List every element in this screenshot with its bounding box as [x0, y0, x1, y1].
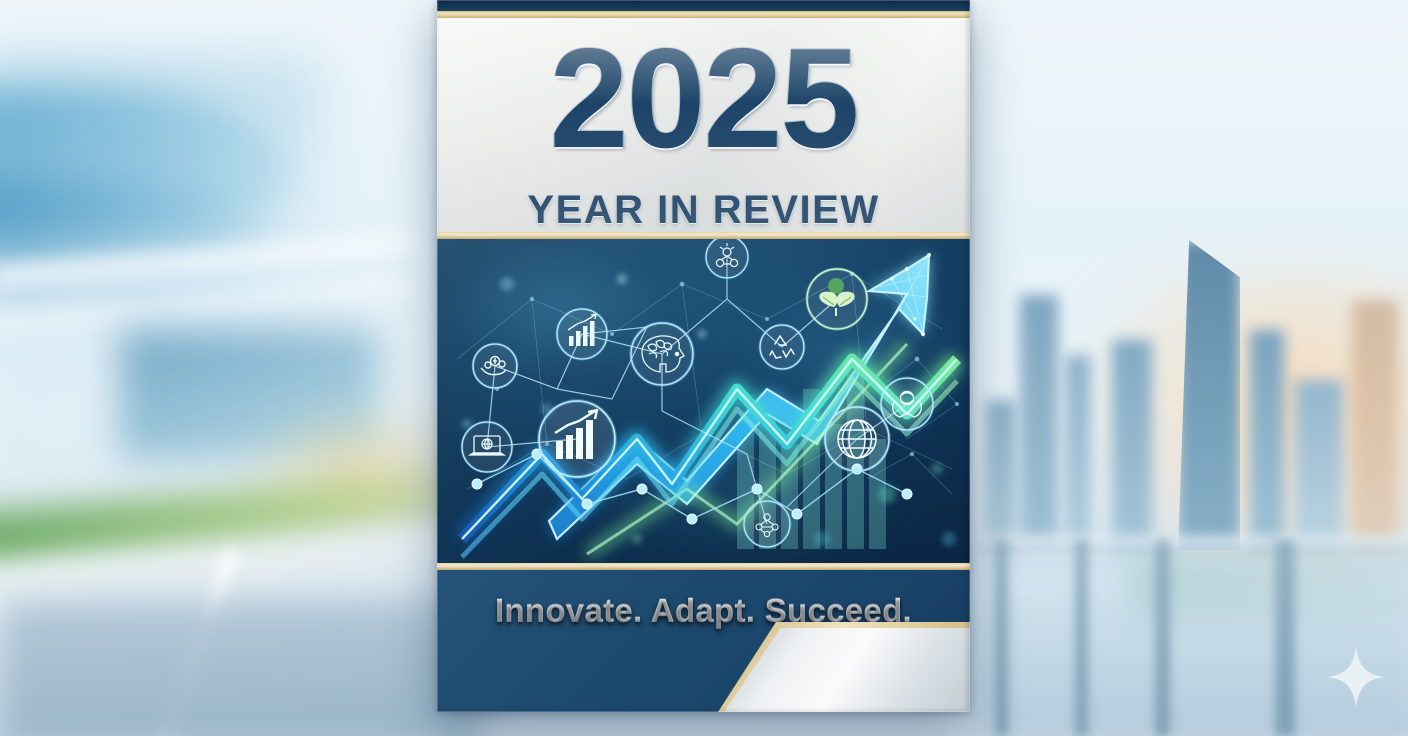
background-tower: [1065, 355, 1091, 545]
globe-grid-icon: [825, 407, 889, 471]
poster-top-navy-band: [437, 0, 970, 11]
page-subtitle: YEAR IN REVIEW: [437, 190, 970, 230]
background-rail-post: [995, 540, 1008, 736]
gear-network-icon: [706, 239, 748, 278]
footer-corner-silver-panel: [724, 628, 970, 712]
brain-ai-icon: [631, 323, 693, 385]
poster-hero-graphic: [437, 239, 970, 563]
data-point: [792, 509, 802, 519]
data-point: [582, 499, 592, 509]
background-tower: [1352, 300, 1398, 550]
background-tower: [1020, 295, 1058, 545]
background-ground: [0, 600, 480, 736]
page-title-year: 2025: [437, 28, 970, 170]
background-handrail-mid: [975, 560, 1408, 570]
data-point: [472, 479, 482, 489]
background-tower: [986, 400, 1016, 550]
recycle-icon: [760, 325, 804, 369]
background-rail-post: [1275, 540, 1295, 736]
sparkle-icon: [1327, 646, 1385, 708]
data-point: [687, 514, 697, 524]
poster-top-gold-rule: [437, 11, 970, 18]
growth-infographic: [437, 239, 970, 563]
background-tower: [1295, 380, 1343, 550]
leaf-icon: [807, 269, 867, 329]
poster-gold-divider-bottom: [437, 563, 970, 570]
poster-gold-divider-top: [437, 232, 970, 239]
background-handrail: [975, 536, 1408, 552]
background-rail-post: [1075, 540, 1088, 736]
poster-header: 2025 YEAR IN REVIEW: [437, 18, 970, 232]
data-point: [902, 489, 912, 499]
background-tower: [1112, 340, 1152, 550]
data-point: [637, 484, 647, 494]
background-rail-post: [1155, 540, 1170, 736]
hands-care-icon: [881, 378, 933, 430]
hand-coins-icon: [473, 344, 517, 388]
year-in-review-poster: 2025 YEAR IN REVIEW: [437, 0, 970, 712]
network-nodes-icon: [744, 501, 790, 547]
poster-footer: Innovate. Adapt. Succeed.: [437, 570, 970, 712]
bar-chart-trend-icon: [557, 309, 607, 359]
background-tower: [1250, 330, 1284, 550]
laptop-globe-icon: [462, 422, 512, 472]
